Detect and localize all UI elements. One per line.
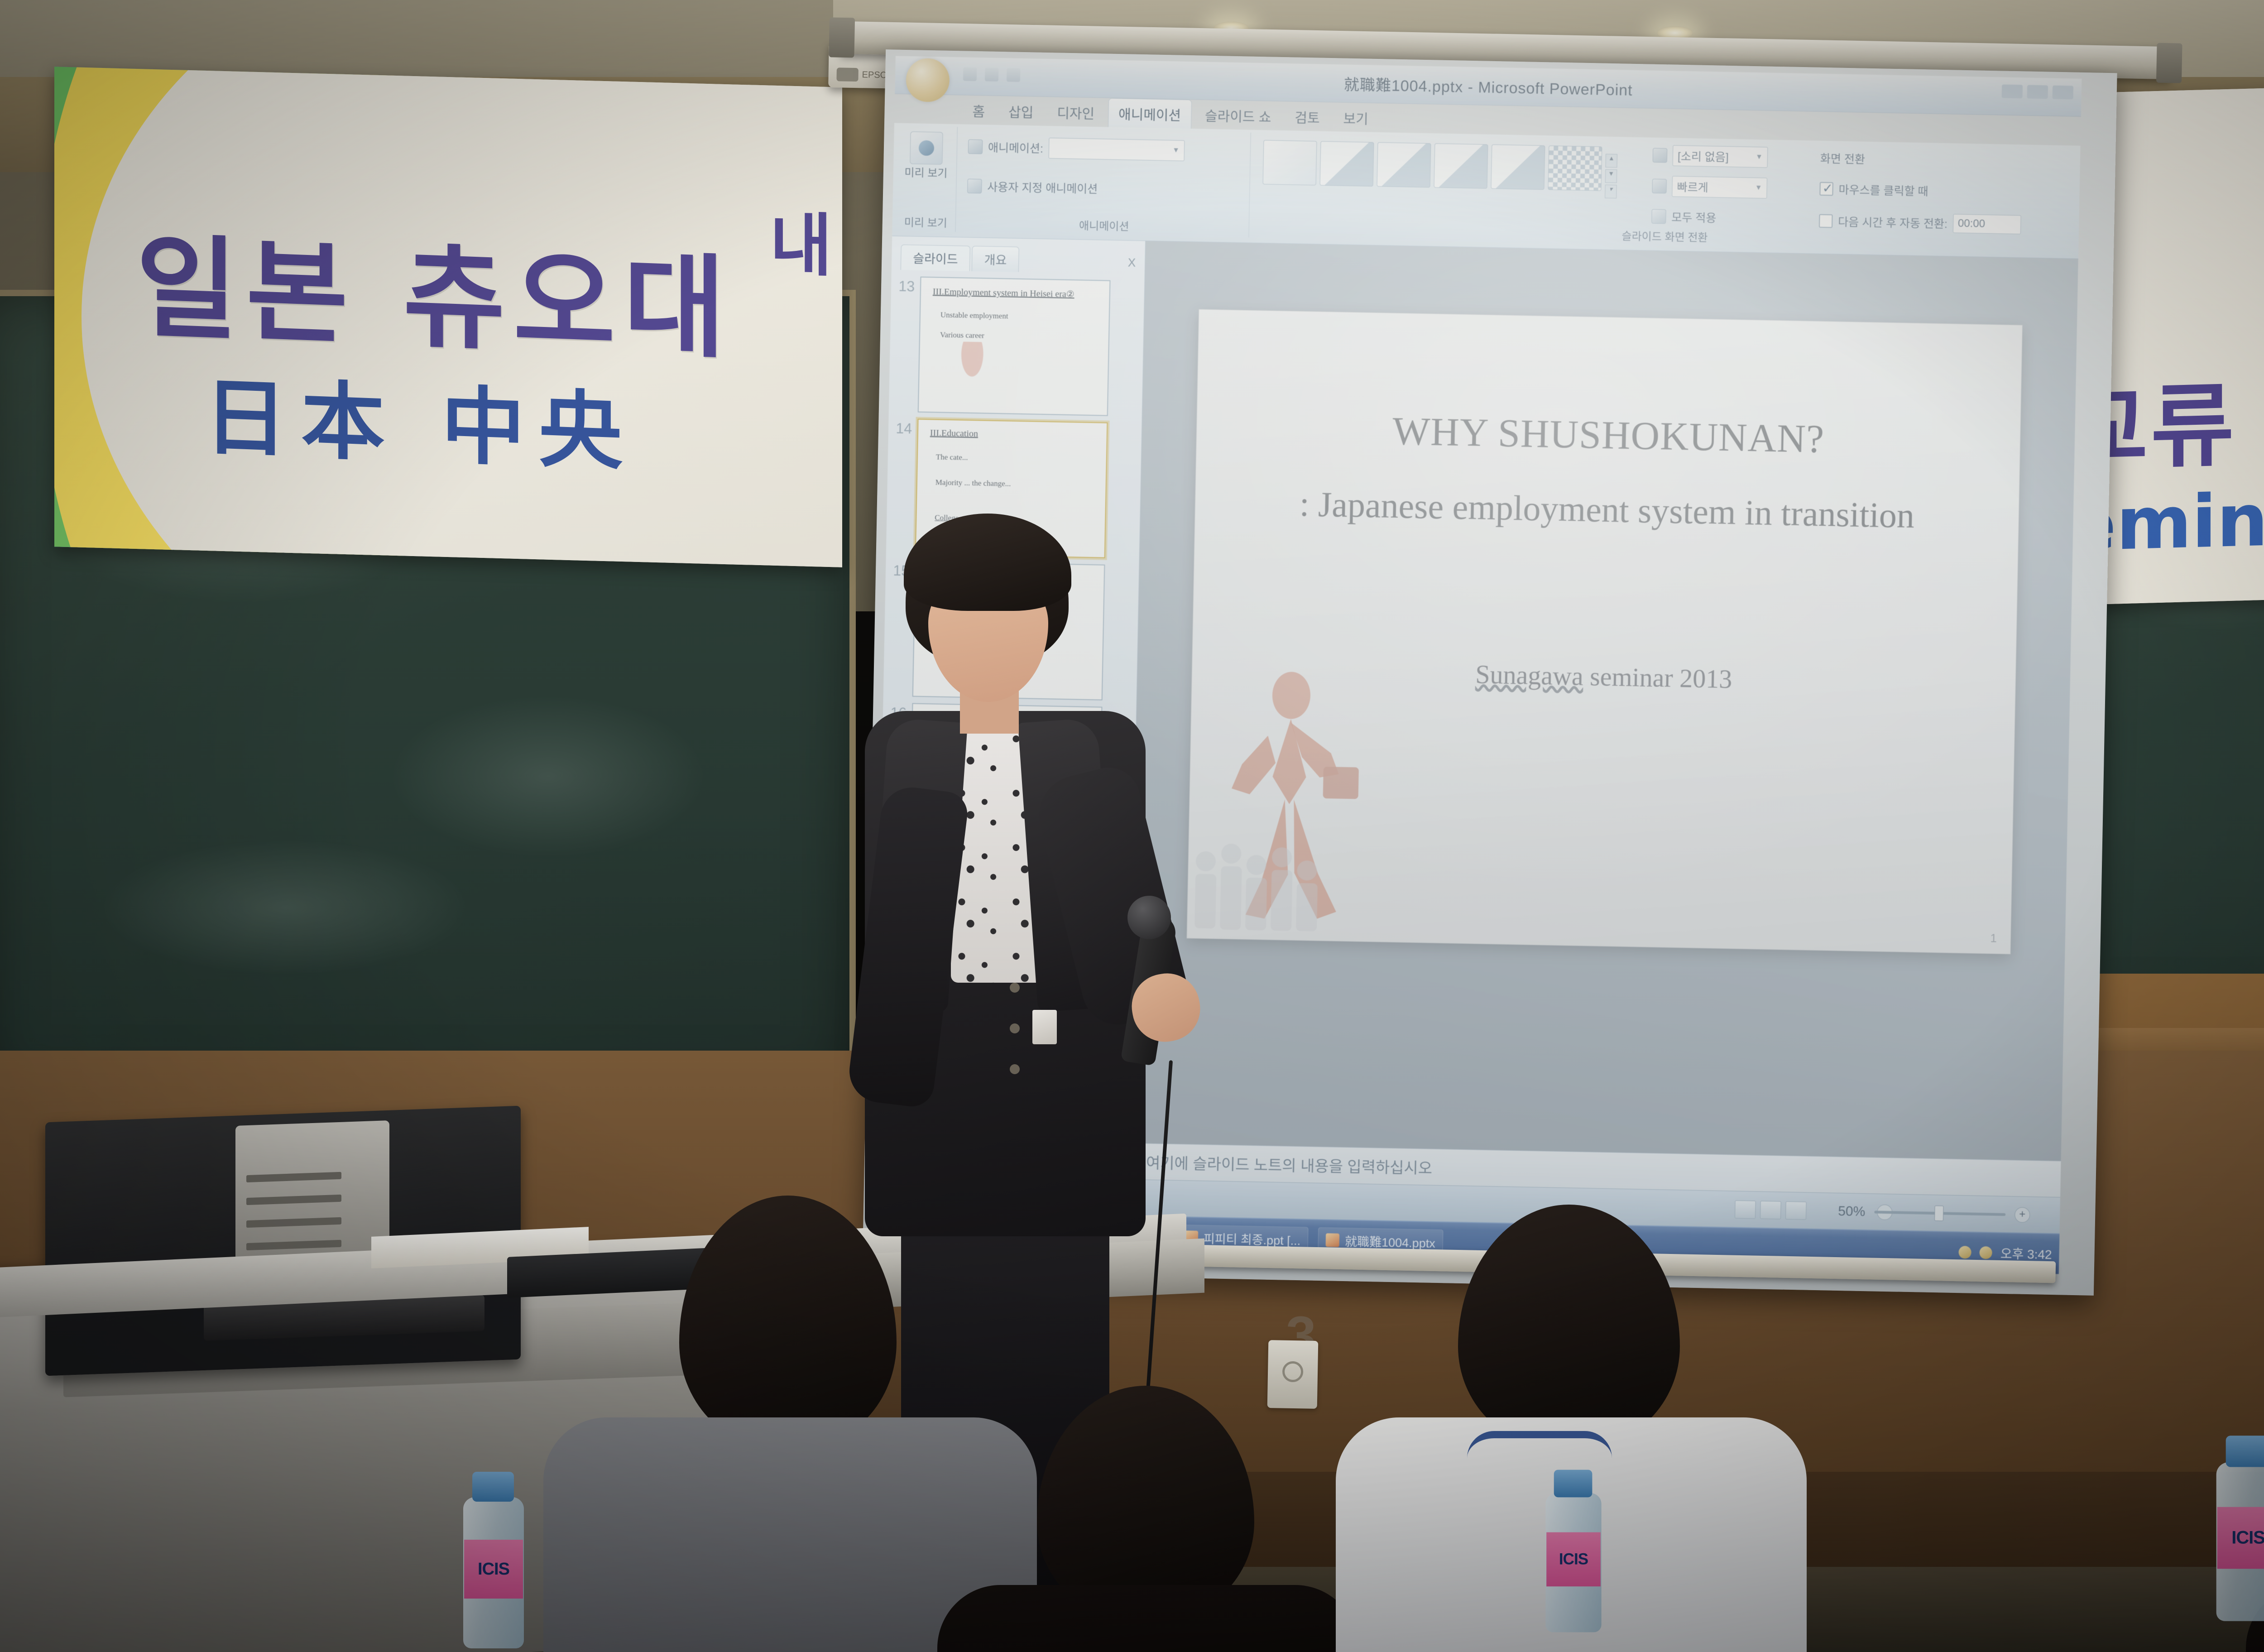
- animation-icon: [968, 139, 983, 154]
- transition-option[interactable]: [1377, 142, 1431, 187]
- transition-speed-select[interactable]: 빠르게: [1672, 176, 1767, 199]
- slide-footer-rest: seminar 2013: [1583, 662, 1732, 694]
- bottle-cap: [472, 1472, 514, 1502]
- window-title: 就職難1004.pptx - Microsoft PowerPoint: [1344, 72, 1633, 100]
- presenter-hair-fringe: [904, 514, 1071, 611]
- current-slide[interactable]: WHY SHUSHOKUNAN? : Japanese employment s…: [1187, 309, 2023, 955]
- advance-after-time-row[interactable]: 다음 시간 후 자동 전환: 00:00: [1819, 211, 2021, 235]
- slide-page-number: 1: [1990, 931, 1997, 945]
- redo-icon[interactable]: [1007, 68, 1021, 82]
- apply-to-all-label: 모두 적용: [1671, 209, 1717, 226]
- ribbon-group-preview: 미리 보기 미리 보기: [896, 126, 957, 232]
- transition-option[interactable]: [1491, 144, 1545, 190]
- tab-outline[interactable]: 개요: [972, 246, 1019, 272]
- transition-gallery-scroll[interactable]: ▲ ▼ ▾: [1605, 154, 1617, 198]
- jacket-button: [1010, 1064, 1020, 1074]
- transition-option[interactable]: [1263, 140, 1317, 185]
- thumbnail-bullet: Various career: [940, 331, 984, 341]
- thumbnail-title: III.Education: [930, 428, 979, 439]
- office-orb-icon[interactable]: [906, 58, 950, 102]
- zoom-level-label: 50%: [1838, 1203, 1866, 1219]
- bottle-cap: [1554, 1470, 1592, 1498]
- slide-editing-area[interactable]: WHY SHUSHOKUNAN? : Japanese employment s…: [1128, 241, 2078, 1161]
- tab-review[interactable]: 검토: [1285, 102, 1330, 133]
- on-mouse-click-label: 마우스를 클릭할 때: [1838, 181, 1928, 199]
- advance-slide-label: 화면 전환: [1820, 150, 1866, 167]
- speed-icon: [1652, 179, 1667, 194]
- bottle-label: ICIS: [464, 1540, 523, 1599]
- transition-option[interactable]: [1548, 145, 1602, 191]
- tab-slides[interactable]: 슬라이드: [901, 245, 970, 271]
- preview-button-label: 미리 보기: [904, 167, 948, 180]
- slide-footer-author: Sunagawa: [1475, 659, 1584, 691]
- auto-advance-time-input[interactable]: 00:00: [1953, 214, 2021, 234]
- jacket-button: [1010, 983, 1020, 993]
- banner-left-top-partial: 내: [770, 190, 832, 290]
- gallery-more-icon[interactable]: ▾: [1605, 185, 1617, 198]
- slide-number: 13: [895, 276, 915, 295]
- thumbnail-bullet: Majority ... the change...: [935, 478, 1011, 488]
- lecture-hall-scene: BOARD ERASER 3 내 일본 츄오대 日本 中央 그램 행교류 세미 …: [0, 0, 2264, 1652]
- banner-left: 내 일본 츄오대 日本 中央: [54, 67, 842, 567]
- bottle-label: ICIS: [1546, 1532, 1601, 1587]
- transition-sound-row[interactable]: [소리 없음]: [1653, 145, 1768, 168]
- slide-number: 14: [892, 418, 912, 437]
- water-bottle: ICIS: [460, 1472, 528, 1648]
- custom-animation-icon: [967, 179, 982, 194]
- tab-animations[interactable]: 애니메이션: [1108, 98, 1192, 130]
- audience-shoulders: [937, 1585, 1358, 1652]
- chevron-up-icon[interactable]: ▲: [1605, 154, 1617, 168]
- jacket-button: [1010, 1023, 1020, 1033]
- tray-icon[interactable]: [1959, 1246, 1972, 1259]
- transition-sound-select[interactable]: [소리 없음]: [1673, 145, 1768, 168]
- audience-head: [679, 1196, 897, 1449]
- tab-design[interactable]: 디자인: [1047, 97, 1105, 128]
- zoom-slider-handle[interactable]: [1934, 1205, 1944, 1221]
- custom-animation-label: 사용자 지정 애니메이션: [987, 178, 1098, 197]
- thumbnail-title: III.Employment system in Heisei era②: [933, 286, 1074, 300]
- transition-option[interactable]: [1320, 141, 1374, 187]
- slide-title: WHY SHUSHOKUNAN?: [1196, 404, 2020, 466]
- tab-insert[interactable]: 삽입: [998, 96, 1044, 127]
- on-mouse-click-checkbox[interactable]: [1819, 182, 1833, 196]
- slide-thumbnail[interactable]: III.Employment system in Heisei era② Uns…: [918, 277, 1111, 416]
- minimize-icon[interactable]: [2002, 84, 2023, 98]
- ribbon[interactable]: 미리 보기 미리 보기 애니메이션: 사용자 지정 애니메이션 애니: [892, 123, 2080, 259]
- panel-close-icon[interactable]: X: [1128, 255, 1136, 269]
- walking-person-clipart-icon: [944, 341, 1000, 410]
- roller-cap-right: [2156, 43, 2182, 83]
- thumbnail-bullet: The cate...: [936, 452, 968, 462]
- water-bottle: ICIS: [1542, 1470, 1605, 1633]
- slides-panel-tabs[interactable]: 슬라이드 개요 X: [892, 236, 1145, 274]
- tab-home[interactable]: 홈: [962, 96, 995, 126]
- bottle-label: ICIS: [2217, 1507, 2264, 1569]
- chevron-down-icon[interactable]: ▼: [1605, 169, 1617, 183]
- auto-advance-label: 다음 시간 후 자동 전환:: [1838, 213, 1947, 232]
- apply-to-all-button[interactable]: 모두 적용: [1651, 208, 1717, 226]
- animation-dropdown-row[interactable]: 애니메이션:: [968, 136, 1185, 161]
- slide-thumbnail-item[interactable]: 13 III.Employment system in Heisei era② …: [889, 269, 1145, 417]
- water-bottle: ICIS: [2212, 1436, 2264, 1621]
- quick-access-toolbar[interactable]: [963, 67, 1021, 82]
- ribbon-group-animations-label: 애니메이션: [959, 214, 1249, 235]
- undo-icon[interactable]: [985, 67, 999, 82]
- tray-icon[interactable]: [1980, 1246, 1993, 1259]
- advance-on-click-row[interactable]: 마우스를 클릭할 때: [1819, 181, 1928, 199]
- close-icon[interactable]: [2053, 86, 2074, 100]
- apply-all-icon: [1651, 209, 1666, 224]
- audience-member: [924, 1386, 1367, 1652]
- transition-speed-row[interactable]: 빠르게: [1652, 176, 1767, 199]
- save-icon[interactable]: [963, 67, 977, 81]
- tab-view[interactable]: 보기: [1333, 103, 1378, 134]
- roller-cap-left: [829, 17, 855, 58]
- presenter-name-badge: [1032, 1010, 1057, 1044]
- zoom-in-button[interactable]: +: [2015, 1207, 2030, 1223]
- auto-advance-checkbox[interactable]: [1819, 214, 1833, 228]
- banner-left-japanese-title: 日本 中央: [204, 349, 636, 486]
- window-controls[interactable]: [2002, 84, 2074, 99]
- ribbon-group-preview-label: 미리 보기: [896, 213, 956, 231]
- zoom-slider[interactable]: [1874, 1210, 2005, 1216]
- custom-animation-button[interactable]: 사용자 지정 애니메이션: [967, 178, 1098, 197]
- slide-subtitle: : Japanese employment system in transiti…: [1195, 481, 2019, 538]
- ribbon-group-transitions: ▲ ▼ ▾ [소리 없음] 빠르게: [1252, 133, 2078, 254]
- preview-icon: [910, 131, 943, 164]
- transition-option[interactable]: [1434, 143, 1488, 188]
- advance-slide-heading: 화면 전환: [1820, 150, 1866, 167]
- animation-select[interactable]: [1049, 138, 1185, 161]
- audience-head: [1458, 1205, 1680, 1449]
- preview-button[interactable]: 미리 보기: [902, 131, 950, 180]
- tab-slideshow[interactable]: 슬라이드 쇼: [1194, 100, 1281, 132]
- maximize-icon[interactable]: [2027, 85, 2048, 99]
- projector-lens-icon: [836, 67, 859, 82]
- animation-field-label: 애니메이션:: [988, 139, 1044, 156]
- thumbnail-bullet: Unstable employment: [940, 311, 1008, 321]
- ribbon-group-animations: 애니메이션: 사용자 지정 애니메이션 애니메이션: [959, 127, 1251, 237]
- sound-icon: [1653, 148, 1668, 163]
- bottle-cap: [2226, 1436, 2264, 1467]
- transition-gallery[interactable]: ▲ ▼ ▾: [1263, 140, 1602, 191]
- microphone-head-icon: [1127, 896, 1171, 939]
